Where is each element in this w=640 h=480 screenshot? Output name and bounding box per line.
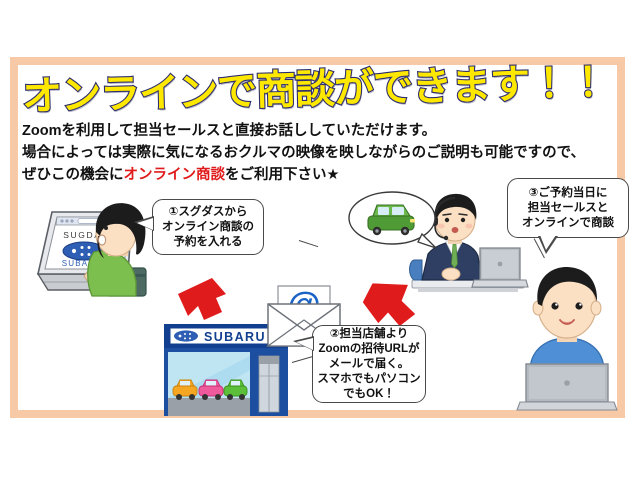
body-line-3-post: をご利用下さい★: [225, 167, 340, 183]
callout-3-text: ③ご予約当日に 担当セールスと オンラインで商談: [522, 186, 614, 231]
illustration-customer-at-laptop: [512, 262, 622, 410]
arrow-up-right-icon: [360, 278, 418, 330]
callout-step-3[interactable]: ③ご予約当日に 担当セールスと オンラインで商談: [507, 178, 629, 238]
poster-root: オンラインで商談ができます！！ Zoomを利用して担当セールスと直接お話ししてい…: [0, 0, 640, 480]
callout-step-2[interactable]: ②担当店舗より Zoomの招待URLが メールで届く。 スマホでもパソコン でも…: [312, 325, 426, 403]
callout-3-tail: [538, 236, 558, 254]
body-line-2: 場合によっては実際に気になるおクルマの映像を映しながらのご説明も可能ですので、: [22, 142, 622, 164]
callout-step-1[interactable]: ①スグダスから オンライン商談の 予約を入れる: [152, 199, 264, 255]
shop-sign-text: SUBARU: [204, 330, 266, 344]
callout-1-tail: [134, 216, 154, 231]
body-copy: Zoomを利用して担当セールスと直接お話ししていただけます。 場合によっては実際…: [22, 120, 622, 186]
callout-1-text: ①スグダスから オンライン商談の 予約を入れる: [162, 205, 254, 250]
illustration-person-at-laptop: SUGDAS SUBARU: [32, 196, 152, 300]
body-line-3-highlight: オンライン商談: [124, 167, 226, 183]
arrow-down-left-icon: [172, 276, 230, 328]
body-line-1: Zoomを利用して担当セールスと直接お話ししていただけます。: [22, 120, 622, 142]
body-line-3-pre: ぜひこの機会に: [22, 167, 124, 183]
callout-2-text: ②担当店舗より Zoomの招待URLが メールで届く。 スマホでもパソコン でも…: [317, 327, 420, 402]
speech-bubble-car: [348, 190, 438, 252]
callout-2-tail: [293, 336, 314, 351]
